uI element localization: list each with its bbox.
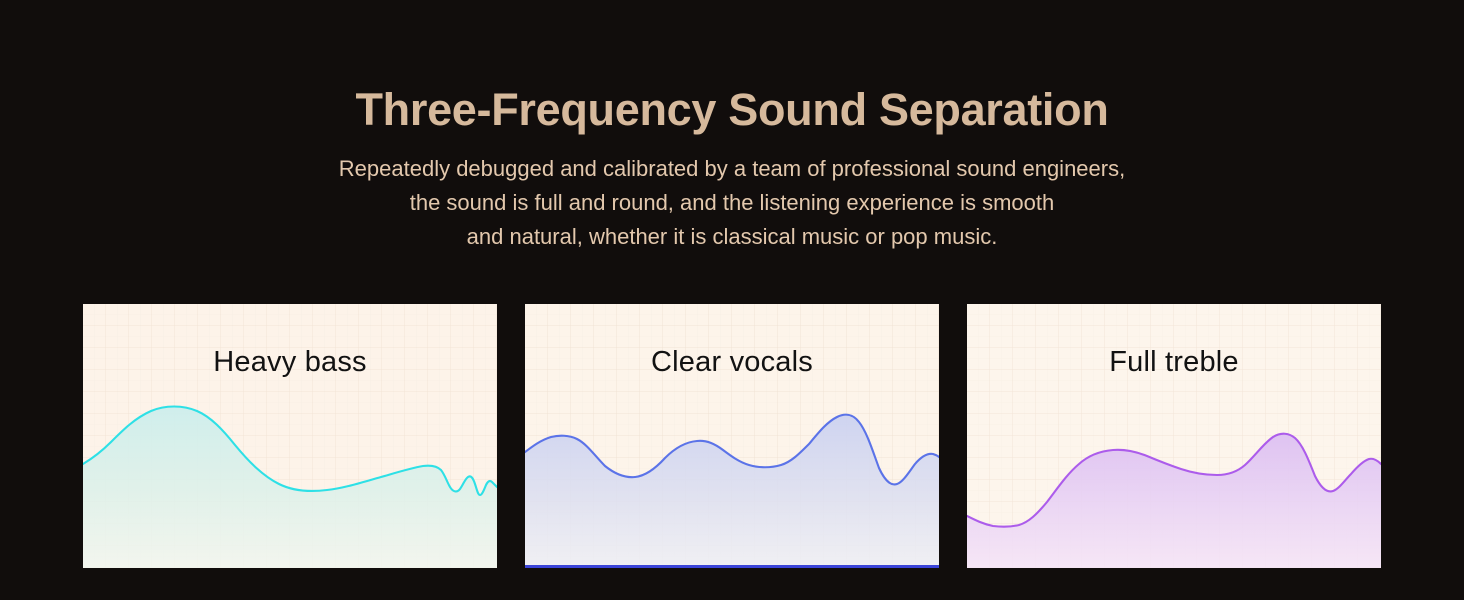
panel-label-clear-vocals: Clear vocals <box>525 346 939 379</box>
subtitle-line-3: and natural, whether it is classical mus… <box>0 220 1464 254</box>
panel-clear-vocals: Clear vocals <box>525 304 939 568</box>
page-title: Three-Frequency Sound Separation <box>0 0 1464 135</box>
panel-label-heavy-bass: Heavy bass <box>83 346 497 379</box>
waveform-panels: Heavy bass <box>83 304 1381 568</box>
panel-heavy-bass: Heavy bass <box>83 304 497 568</box>
subtitle-line-2: the sound is full and round, and the lis… <box>0 186 1464 220</box>
promo-banner: Three-Frequency Sound Separation Repeate… <box>0 0 1464 600</box>
waveform-full-treble <box>967 304 1381 568</box>
header-block: Three-Frequency Sound Separation Repeate… <box>0 0 1464 254</box>
panel-full-treble: Full treble <box>967 304 1381 568</box>
subtitle-line-1: Repeatedly debugged and calibrated by a … <box>0 152 1464 186</box>
waveform-heavy-bass <box>83 304 497 568</box>
waveform-clear-vocals <box>525 304 939 568</box>
panel-bottom-rule-vocals <box>525 565 939 568</box>
panel-label-full-treble: Full treble <box>967 346 1381 379</box>
page-subtitle: Repeatedly debugged and calibrated by a … <box>0 135 1464 254</box>
